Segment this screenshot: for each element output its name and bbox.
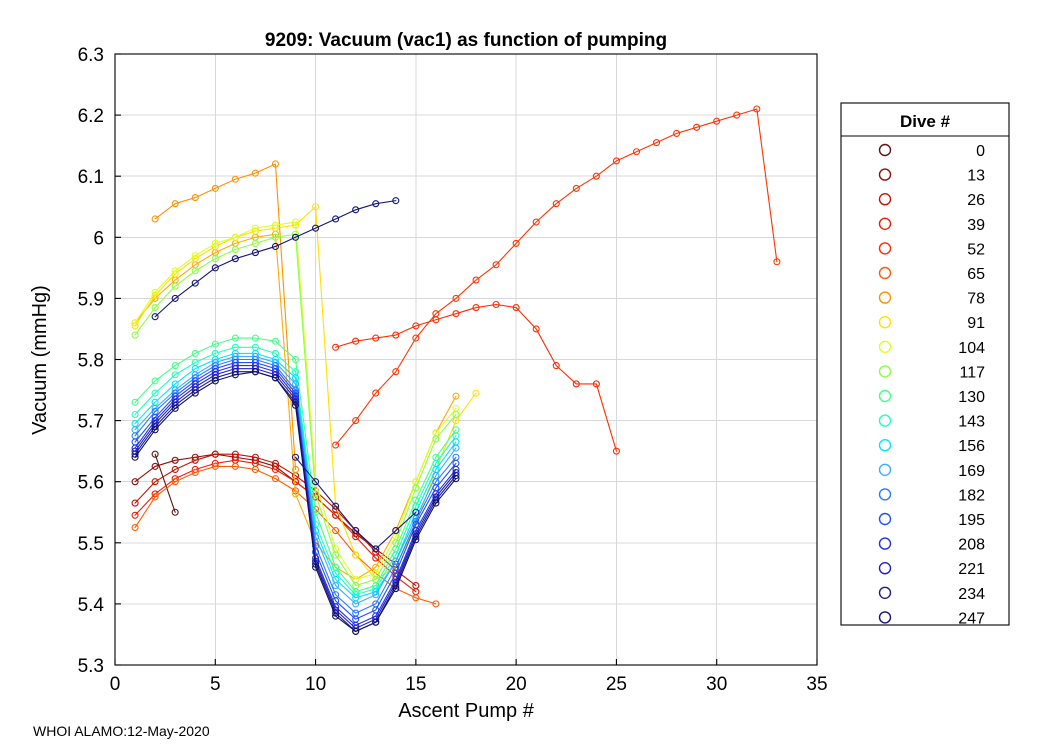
y-tick-label: 5.4 (78, 595, 105, 616)
x-tick-label: 25 (606, 674, 627, 695)
legend-item-label: 39 (967, 217, 985, 234)
legend-item-label: 130 (958, 389, 985, 406)
figure-canvas: 9209: Vacuum (vac1) as function of pumpi… (0, 0, 1050, 750)
legend-item-label: 143 (958, 414, 985, 431)
chart-title: 9209: Vacuum (vac1) as function of pumpi… (265, 30, 667, 51)
y-tick-label: 5.6 (78, 473, 104, 494)
y-axis-label: Vacuum (mmHg) (29, 285, 51, 435)
y-tick-label: 6.1 (78, 167, 104, 188)
legend-item-label: 221 (958, 561, 985, 578)
legend-item-label: 91 (967, 315, 985, 332)
legend-item-label: 13 (967, 168, 985, 185)
y-tick-label: 5.7 (78, 412, 104, 433)
legend-title: Dive # (900, 112, 951, 131)
legend-item-label: 117 (959, 364, 985, 381)
y-tick-label: 6.2 (78, 106, 104, 127)
x-axis-label: Ascent Pump # (398, 700, 535, 722)
x-tick-label: 30 (706, 674, 727, 695)
y-tick-label: 5.8 (78, 351, 104, 372)
legend-item-label: 65 (967, 266, 985, 283)
x-tick-label: 15 (405, 674, 426, 695)
x-tick-label: 20 (506, 674, 527, 695)
legend-item-label: 208 (958, 537, 985, 554)
x-tick-label: 5 (210, 674, 221, 695)
y-tick-label: 5.3 (78, 656, 104, 677)
legend-item-label: 26 (967, 192, 985, 209)
legend-item-label: 169 (958, 463, 985, 480)
x-tick-label: 0 (110, 674, 121, 695)
y-tick-label: 6 (93, 228, 104, 249)
legend-item-label: 195 (958, 512, 985, 529)
y-tick-label: 6.3 (78, 45, 104, 66)
legend-item-label: 78 (967, 291, 985, 308)
legend-item-label: 104 (958, 340, 985, 357)
y-tick-label: 5.5 (78, 534, 104, 555)
legend-item-label: 52 (967, 241, 985, 258)
legend-item-label: 0 (976, 143, 985, 160)
y-tick-label: 5.9 (78, 289, 104, 310)
x-tick-label: 35 (806, 674, 827, 695)
x-tick-label: 10 (305, 674, 326, 695)
legend-item-label: 247 (958, 610, 985, 627)
legend-item-label: 182 (958, 487, 985, 504)
legend-item-label: 156 (958, 438, 985, 455)
legend[interactable]: Dive # 013263952657891104117130143156169… (841, 103, 1009, 627)
footer-credit: WHOI ALAMO:12-May-2020 (33, 723, 210, 739)
legend-item-label: 234 (958, 586, 985, 603)
